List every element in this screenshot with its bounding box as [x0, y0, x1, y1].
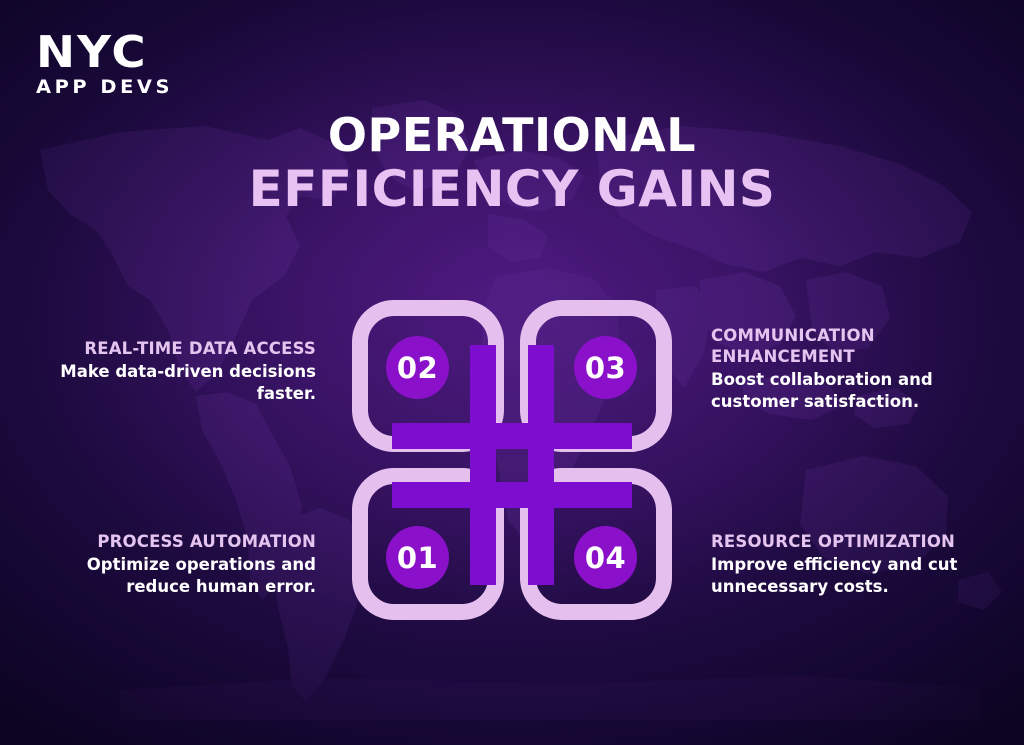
hash-vertical-bar-left: [470, 345, 496, 585]
feature-item-communication-enhancement: COMMUNICATION ENHANCEMENT Boost collabor…: [711, 325, 1001, 413]
logo-primary-text: NYC: [36, 32, 195, 74]
feature-body: Make data-driven decisions faster.: [46, 361, 316, 405]
feature-item-resource-optimization: RESOURCE OPTIMIZATION Improve efficiency…: [711, 531, 1001, 598]
hash-grid-diagram: 02 03 01 04: [340, 288, 684, 632]
nyc-app-devs-logo[interactable]: NYC APP DEVS: [36, 32, 186, 97]
feature-item-real-time-data-access: REAL-TIME DATA ACCESS Make data-driven d…: [46, 338, 316, 405]
number-badge-01[interactable]: 01: [386, 526, 449, 589]
hash-vertical-bar-right: [528, 345, 554, 585]
feature-title: COMMUNICATION ENHANCEMENT: [711, 325, 1001, 367]
number-badge-01-label: 01: [397, 541, 438, 575]
feature-title: RESOURCE OPTIMIZATION: [711, 531, 1001, 552]
feature-body: Boost collaboration and customer satisfa…: [711, 369, 1001, 413]
title-line-two: EFFICIENCY GAINS: [0, 164, 1024, 214]
hash-horizontal-bar-top: [392, 423, 632, 449]
feature-title: PROCESS AUTOMATION: [46, 531, 316, 552]
hash-horizontal-bar-bottom: [392, 482, 632, 508]
number-badge-02-label: 02: [397, 351, 438, 385]
feature-item-process-automation: PROCESS AUTOMATION Optimize operations a…: [46, 531, 316, 598]
number-badge-03-label: 03: [585, 351, 626, 385]
number-badge-04-label: 04: [585, 541, 626, 575]
number-badge-04[interactable]: 04: [574, 526, 637, 589]
title-line-one: OPERATIONAL: [0, 112, 1024, 158]
infographic-canvas: NYC APP DEVS OPERATIONAL EFFICIENCY GAIN…: [0, 0, 1024, 745]
feature-title: REAL-TIME DATA ACCESS: [46, 338, 316, 359]
logo-secondary-text: APP DEVS: [36, 78, 189, 97]
page-title: OPERATIONAL EFFICIENCY GAINS: [0, 112, 1024, 214]
number-badge-03[interactable]: 03: [574, 336, 637, 399]
feature-body: Improve efficiency and cut unnecessary c…: [711, 554, 1001, 598]
number-badge-02[interactable]: 02: [386, 336, 449, 399]
feature-body: Optimize operations and reduce human err…: [46, 554, 316, 598]
